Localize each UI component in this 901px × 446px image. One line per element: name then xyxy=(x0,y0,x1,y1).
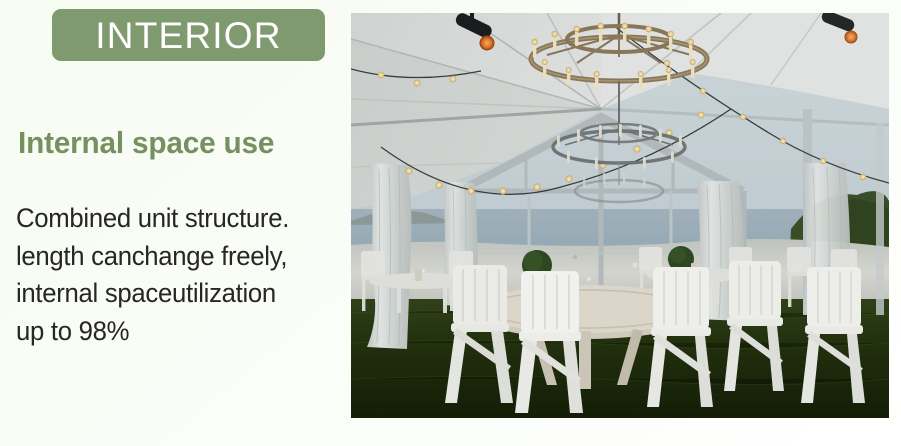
section-badge: INTERIOR xyxy=(52,9,325,61)
description-line: internal spaceutilization xyxy=(16,275,336,313)
section-badge-label: INTERIOR xyxy=(95,17,281,54)
interior-feature-panel: INTERIOR Internal space use Combined uni… xyxy=(0,0,901,446)
description-line: length canchange freely, xyxy=(16,238,336,276)
description-line: Combined unit structure. xyxy=(16,200,336,238)
tent-interior-photo xyxy=(351,13,889,418)
description-text: Combined unit structure. length canchang… xyxy=(16,200,336,350)
page-title: Internal space use xyxy=(18,125,274,161)
text-column: INTERIOR Internal space use Combined uni… xyxy=(0,0,351,446)
tent-interior-illustration xyxy=(351,13,889,418)
description-line: up to 98% xyxy=(16,313,336,351)
